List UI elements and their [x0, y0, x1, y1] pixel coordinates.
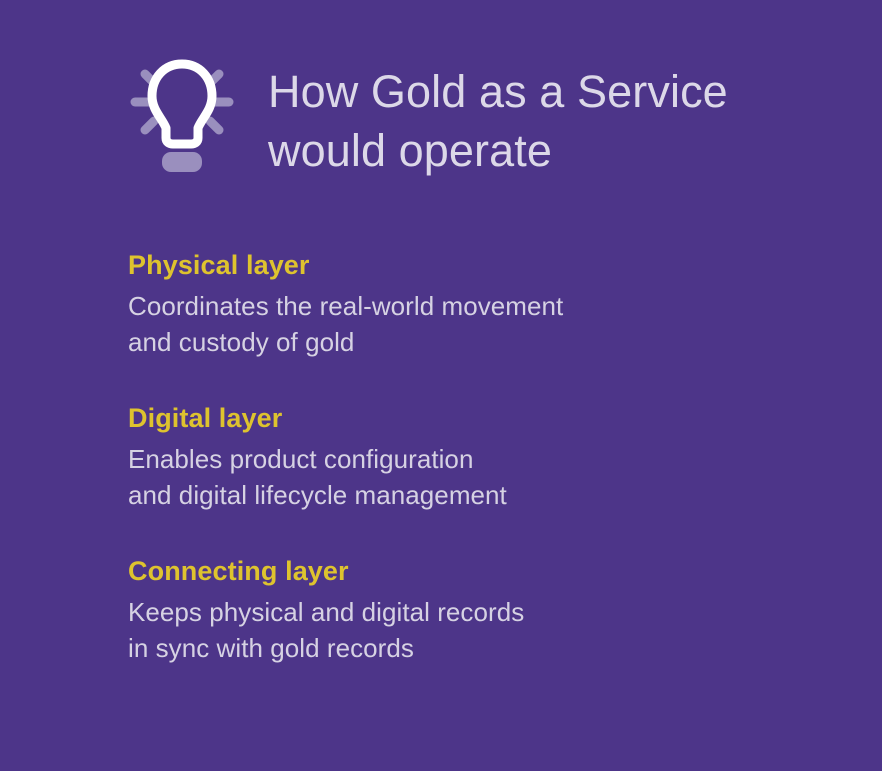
layer-item-physical: Physical layer Coordinates the real-worl…	[128, 248, 768, 361]
layer-heading: Digital layer	[128, 401, 768, 436]
layer-item-connecting: Connecting layer Keeps physical and digi…	[128, 554, 768, 667]
layer-list: Physical layer Coordinates the real-worl…	[128, 248, 768, 667]
layer-description: Coordinates the real-world movement and …	[128, 289, 768, 361]
layer-item-digital: Digital layer Enables product configurat…	[128, 401, 768, 514]
layer-heading: Connecting layer	[128, 554, 768, 589]
layer-description: Keeps physical and digital records in sy…	[128, 595, 768, 667]
slide-header: How Gold as a Service would operate	[118, 56, 728, 181]
lightbulb-icon	[118, 56, 246, 176]
layer-heading: Physical layer	[128, 248, 768, 283]
slide-root: How Gold as a Service would operate Phys…	[0, 0, 882, 771]
page-title: How Gold as a Service would operate	[268, 56, 728, 181]
layer-description: Enables product configuration and digita…	[128, 442, 768, 514]
